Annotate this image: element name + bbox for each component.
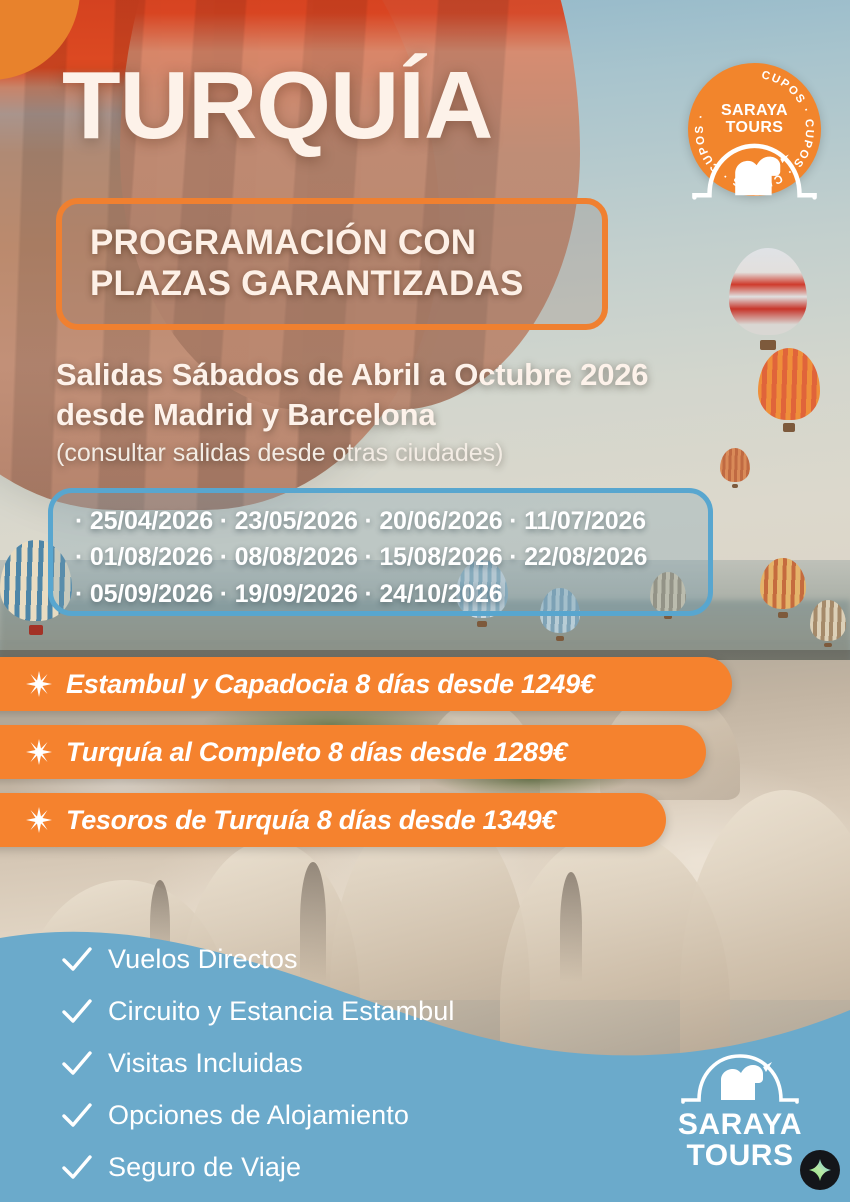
departures-block: Salidas Sábados de Abril a Octubre 2026 … (56, 355, 816, 470)
starburst-icon (26, 807, 52, 833)
feature-label: Opciones de Alojamiento (108, 1100, 409, 1131)
offer-label: Turquía al Completo 8 días desde 1289€ (66, 737, 567, 768)
poster-content: TURQUÍA CUPOS · CUPOS · CUPOS · CUPOS · … (0, 0, 850, 1202)
offer-label: Estambul y Capadocia 8 días desde 1249€ (66, 669, 595, 700)
departure-dates-box: · 25/04/2026 · 23/05/2026 · 20/06/2026 ·… (48, 488, 713, 616)
starburst-icon (26, 739, 52, 765)
offer-bar-estambul-capadocia[interactable]: Estambul y Capadocia 8 días desde 1249€ (0, 657, 732, 711)
camel-arch-icon (688, 103, 821, 236)
camel-arch-icon (679, 1048, 801, 1106)
guaranteed-seats-line1: PROGRAMACIÓN CON (90, 223, 574, 264)
badge-brand-lockup: SARAYA TOURS (688, 103, 821, 136)
offer-bar-tesoros-turquia[interactable]: Tesoros de Turquía 8 días desde 1349€ (0, 793, 666, 847)
feature-item: Seguro de Viaje (62, 1146, 454, 1189)
departures-line1: Salidas Sábados de Abril a Octubre 2026 (56, 355, 816, 395)
dates-row: · 25/04/2026 · 23/05/2026 · 20/06/2026 ·… (75, 503, 686, 539)
feature-label: Circuito y Estancia Estambul (108, 996, 454, 1027)
check-icon (62, 999, 92, 1025)
ai-sparkle-icon (808, 1158, 832, 1182)
offer-bar-turquia-completo[interactable]: Turquía al Completo 8 días desde 1289€ (0, 725, 706, 779)
check-icon (62, 1103, 92, 1129)
footer-brand-line1: SARAYA (655, 1110, 825, 1141)
page-title: TURQUÍA (62, 58, 492, 154)
check-icon (62, 947, 92, 973)
check-icon (62, 1155, 92, 1181)
feature-label: Vuelos Directos (108, 944, 298, 975)
departures-note: (consultar salidas desde otras ciudades) (56, 437, 816, 470)
ai-watermark-badge (800, 1150, 840, 1190)
feature-label: Seguro de Viaje (108, 1152, 301, 1183)
feature-item: Vuelos Directos (62, 938, 454, 981)
dates-row: · 05/09/2026 · 19/09/2026 · 24/10/2026 (75, 576, 686, 612)
cupos-badge: CUPOS · CUPOS · CUPOS · CUPOS · SARAYA T… (688, 63, 821, 196)
travel-poster: TURQUÍA CUPOS · CUPOS · CUPOS · CUPOS · … (0, 0, 850, 1202)
feature-label: Visitas Incluidas (108, 1048, 303, 1079)
dates-row: · 01/08/2026 · 08/08/2026 · 15/08/2026 ·… (75, 539, 686, 575)
check-icon (62, 1051, 92, 1077)
feature-item: Circuito y Estancia Estambul (62, 990, 454, 1033)
starburst-icon (26, 671, 52, 697)
features-list: Vuelos Directos Circuito y Estancia Esta… (62, 938, 454, 1198)
footer-brand-lockup: SARAYA TOURS (655, 1048, 825, 1171)
feature-item: Visitas Incluidas (62, 1042, 454, 1085)
guaranteed-seats-box: PROGRAMACIÓN CON PLAZAS GARANTIZADAS (56, 198, 608, 330)
feature-item: Opciones de Alojamiento (62, 1094, 454, 1137)
offer-label: Tesoros de Turquía 8 días desde 1349€ (66, 805, 556, 836)
departures-line2: desde Madrid y Barcelona (56, 395, 816, 435)
guaranteed-seats-line2: PLAZAS GARANTIZADAS (90, 264, 574, 305)
